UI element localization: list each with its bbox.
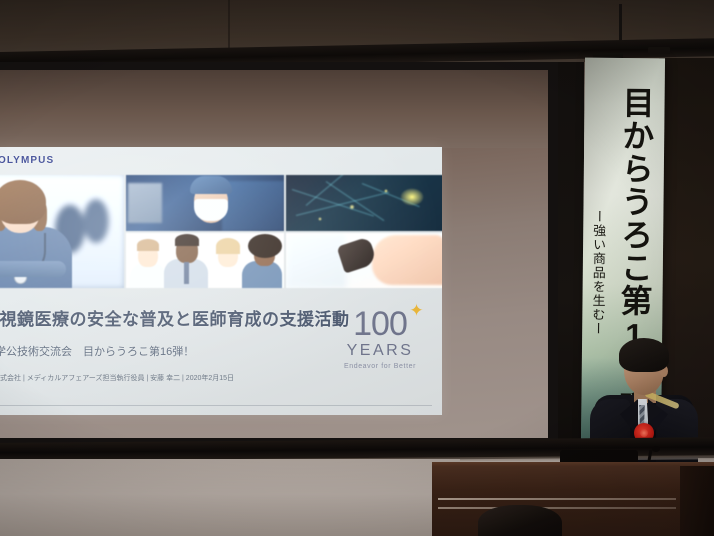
ceiling-clip xyxy=(648,47,670,54)
slide-divider xyxy=(0,405,432,406)
projected-slide: OLYMPUS xyxy=(0,147,442,415)
centenary-lockup: 100 ✦ YEARS Endeavor for Better xyxy=(330,307,430,370)
nurse-photo xyxy=(0,175,124,288)
olympus-logo: OLYMPUS xyxy=(0,155,54,166)
speaker-hair xyxy=(619,338,669,372)
presentation-photo: OLYMPUS xyxy=(0,0,714,536)
projection-screen-top-shade xyxy=(0,70,548,148)
device-photo-hand xyxy=(372,235,442,285)
slide-photo-strip xyxy=(0,175,442,288)
team-member-hair xyxy=(137,239,159,251)
device-photo-blur xyxy=(286,233,346,288)
podium-trim-line-lower xyxy=(438,507,676,509)
team-member-hair xyxy=(175,234,199,246)
centenary-tagline: Endeavor for Better xyxy=(330,363,430,370)
podium-side xyxy=(680,466,714,536)
surgeon-photo-cap xyxy=(190,176,232,194)
slide-subline: 産学公技術交流会 目からうろこ第16弾！ xyxy=(0,343,324,359)
team-member-tie xyxy=(184,262,189,284)
centenary-number: 100 ✦ xyxy=(330,307,430,341)
podium-front xyxy=(432,466,714,536)
slide-credit-line: ンパス株式会社 | メディカルアフェアーズ担当執行役員 | 安藤 幸二 | 20… xyxy=(0,373,302,383)
team-member-hair xyxy=(216,238,240,254)
neuron-photo xyxy=(286,175,442,231)
surgeon-photo-equipment xyxy=(128,183,162,223)
surgeon-photo-mask xyxy=(194,199,228,221)
podium-trim-line-upper xyxy=(438,498,676,500)
centenary-years: YEARS xyxy=(330,342,430,360)
nurse-photo-hair xyxy=(0,180,46,224)
team-member-hair xyxy=(248,234,282,258)
centenary-star-icon: ✦ xyxy=(408,303,424,319)
lower-wall xyxy=(0,459,460,536)
centenary-number-text: 100 xyxy=(353,305,407,343)
audience-member-head xyxy=(478,505,562,536)
device-photo xyxy=(286,233,442,288)
neuron-cell-bodies xyxy=(286,175,442,231)
podium-microphone-head xyxy=(652,446,660,452)
surgeon-photo xyxy=(126,175,284,231)
slide-headline: 内視鏡医療の安全な普及と医師育成の支援活動 xyxy=(0,305,322,330)
nurse-photo-arms xyxy=(0,261,66,277)
care-team-photo xyxy=(126,233,284,288)
